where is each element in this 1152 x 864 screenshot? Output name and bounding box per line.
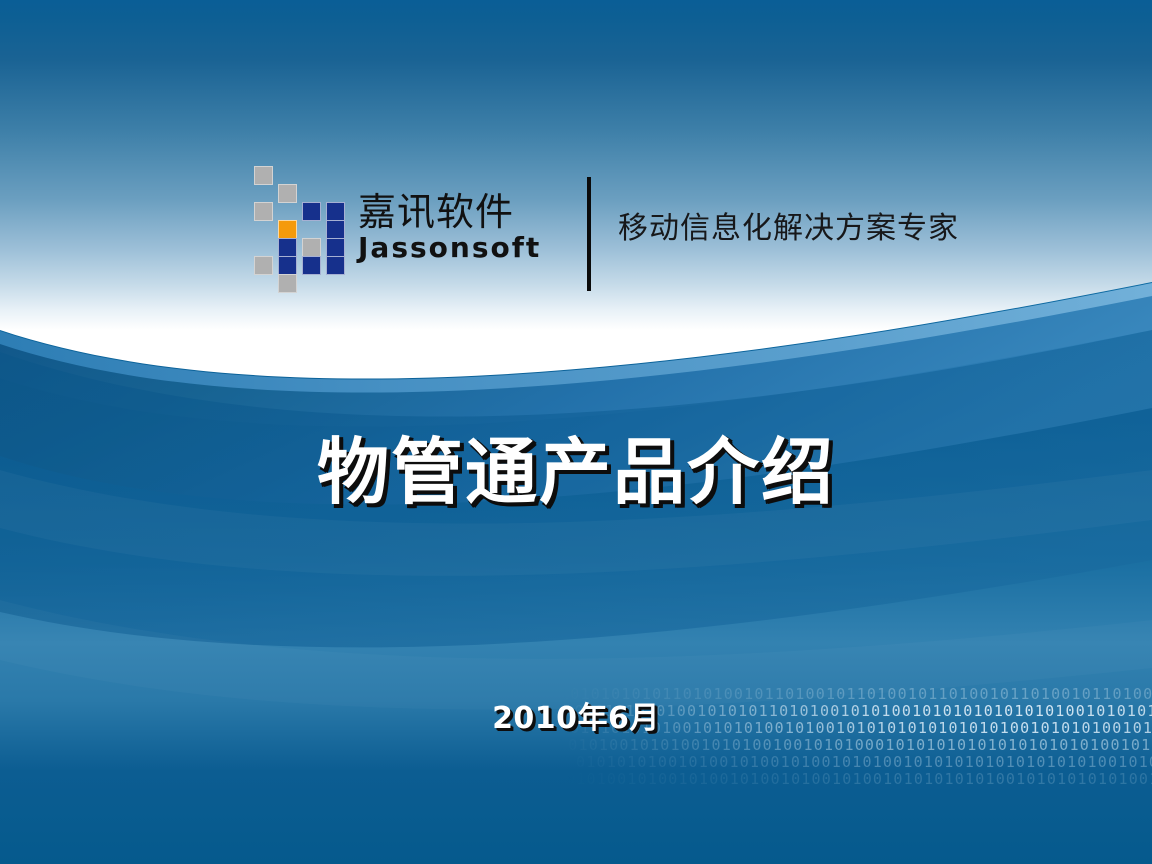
mosaic-square-gray — [254, 202, 273, 221]
logo-wordmark: 嘉讯软件 Jassonsoft — [358, 192, 588, 263]
presentation-date: 2010年6月 — [0, 699, 1152, 739]
mosaic-square-navy — [326, 238, 345, 257]
mosaic-square-gray — [254, 166, 273, 185]
company-name-cn: 嘉讯软件 — [358, 192, 588, 232]
mosaic-square-navy — [302, 256, 321, 275]
mosaic-square-navy — [278, 256, 297, 275]
mosaic-square-gray — [302, 238, 321, 257]
company-tagline: 移动信息化解决方案专家 — [618, 211, 959, 247]
mosaic-square-navy — [302, 202, 321, 221]
mosaic-square-navy — [326, 220, 345, 239]
mosaic-square-navy — [278, 238, 297, 257]
title-slide: 1010101010110101001011010010110100101101… — [0, 0, 1152, 864]
mosaic-square-gray — [278, 184, 297, 203]
mosaic-square-orange — [278, 220, 297, 239]
mosaic-square-gray — [278, 274, 297, 293]
mosaic-square-navy — [326, 202, 345, 221]
mosaic-square-gray — [254, 256, 273, 275]
mosaic-square-navy — [326, 256, 345, 275]
company-name-en: Jassonsoft — [358, 233, 588, 263]
pixel-mosaic-logo-icon — [254, 166, 364, 292]
logo-divider — [587, 177, 591, 291]
page-title: 物管通产品介绍 — [0, 428, 1152, 516]
company-logo: 嘉讯软件 Jassonsoft — [254, 166, 594, 294]
